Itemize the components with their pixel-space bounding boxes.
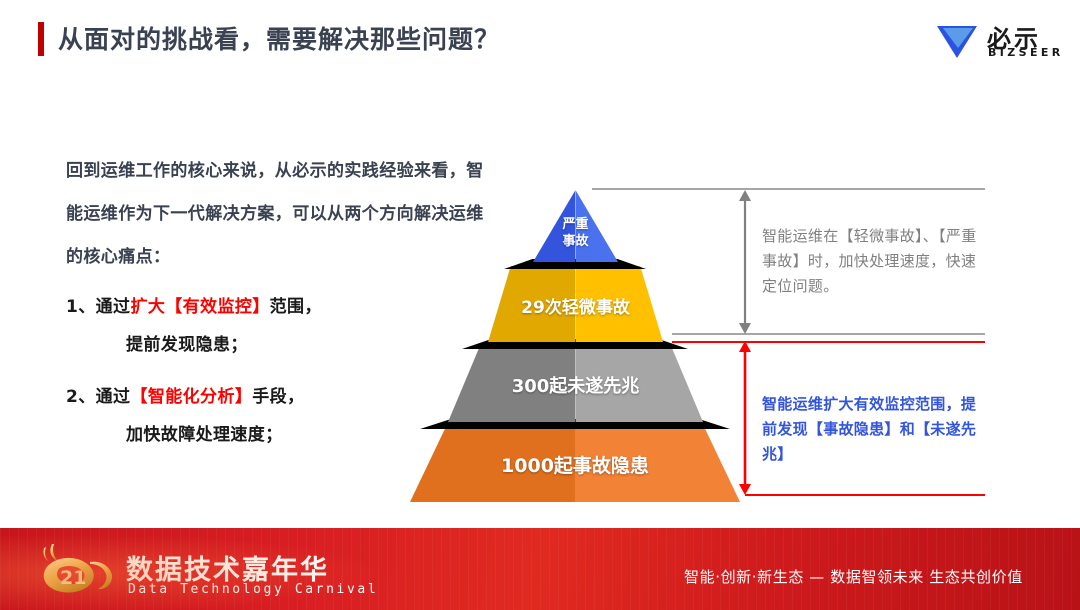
- bizseer-logo: 必示 BIZSEER: [935, 20, 1055, 62]
- pyramid-level-3-right-face: [576, 346, 704, 422]
- bullet-1-prefix: 通过: [96, 297, 131, 317]
- upper-annotation-text: 智能运维在【轻微事故】、【严重事故】时，加快处理速度，快速定位问题。: [762, 224, 990, 299]
- lower-annotation-text: 智能运维扩大有效监控范围，提前发现【事故隐患】和【未遂先兆】: [762, 392, 990, 467]
- pyramid-level-2-right-face: [576, 266, 664, 342]
- pyramid-level-4-left-face: [410, 426, 575, 502]
- footer-tagline: 智能·创新·新生态 — 数据智领未来 生态共创价值: [684, 566, 1023, 587]
- red-double-arrow-icon: [738, 341, 752, 495]
- pyramid-level-hidden-hazard: 1000起事故隐患: [410, 426, 740, 502]
- pyramid-level-minor-incident: 29次轻微事故: [488, 266, 663, 342]
- pyramid-level-4-right-face: [575, 426, 740, 502]
- year-ox-logo-icon: 21: [30, 542, 120, 600]
- pyramid-level-1-right-face: [576, 190, 619, 262]
- bullet-1-suffix: 范围，: [270, 297, 322, 317]
- bullet-2-prefix: 通过: [96, 387, 131, 407]
- footer-brand-cn: 数据技术嘉年华: [126, 548, 329, 587]
- incident-pyramid-chart: 1000起事故隐患 300起未遂先兆 29次轻微事故 严重 事故: [410, 190, 740, 502]
- bullet-1-highlight: 扩大【有效监控】: [130, 297, 269, 317]
- lower-bracket-bottom-rule: [745, 494, 985, 496]
- pyramid-level-near-miss-sign: 300起未遂先兆: [448, 346, 703, 422]
- bullet-2-highlight: 【智能化分析】: [130, 387, 252, 407]
- pyramid-level-severe-incident: 严重 事故: [533, 190, 618, 262]
- bullet-2-index: 2、: [66, 387, 96, 407]
- lower-bracket-top-rule: [672, 341, 985, 343]
- bizseer-chevron-icon: [935, 22, 979, 60]
- logo-text-en: BIZSEER: [988, 46, 1064, 59]
- upper-bracket-top-rule: [592, 188, 985, 190]
- pyramid-level-2-left-face: [488, 266, 576, 342]
- gray-double-arrow-icon: [738, 190, 752, 334]
- upper-bracket-bottom-rule: [672, 333, 985, 335]
- svg-text:21: 21: [60, 567, 86, 589]
- slide-canvas: 从面对的挑战看，需要解决那些问题？ 必示 BIZSEER 回到运维工作的核心来说…: [0, 0, 1080, 610]
- bullet-1-index: 1、: [66, 297, 96, 317]
- page-title: 从面对的挑战看，需要解决那些问题？: [58, 20, 500, 56]
- footer-brand-en: Data Technology Carnival: [128, 582, 378, 597]
- title-accent-bar: [38, 22, 44, 56]
- pyramid-level-3-left-face: [448, 346, 576, 422]
- pyramid-level-1-left-face: [533, 190, 576, 262]
- bullet-2-suffix: 手段，: [252, 387, 304, 407]
